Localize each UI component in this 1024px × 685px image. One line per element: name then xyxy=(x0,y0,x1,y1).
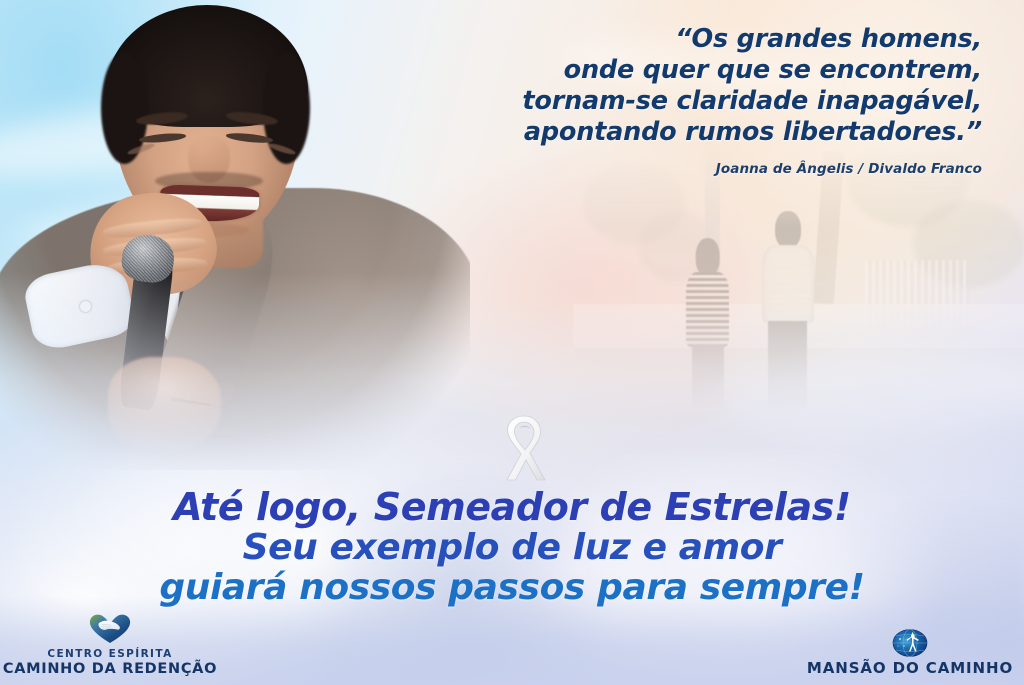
head xyxy=(775,211,801,248)
quote-line-1: “Os grandes homens, xyxy=(422,24,982,55)
quote-line-2: onde quer que se encontrem, xyxy=(422,55,982,86)
logo-right-line-2: MANSÃO DO CAMINHO xyxy=(807,659,1013,677)
quote-block: “Os grandes homens, onde quer que se enc… xyxy=(422,24,982,177)
logo-centro-espirita[interactable]: CENTRO ESPÍRITA CAMINHO DA REDENÇÃO xyxy=(14,611,206,677)
headline-line-1: Até logo, Semeador de Estrelas! xyxy=(0,486,1024,528)
head xyxy=(695,238,720,275)
logo-left-line-2: CAMINHO DA REDENÇÃO xyxy=(3,661,217,677)
headline-line-3: guiará nossos passos para sempre! xyxy=(0,568,1024,608)
globe-figure-logo-icon xyxy=(887,624,933,658)
headline-line-2: Seu exemplo de luz e amor xyxy=(0,528,1024,568)
quote-line-4: apontando rumos libertadores.” xyxy=(422,117,982,148)
logo-mansao-do-caminho[interactable]: MANSÃO DO CAMINHO xyxy=(810,624,1010,677)
hand-holding-microphone xyxy=(108,357,221,451)
white-mourning-ribbon-icon xyxy=(493,410,555,482)
quote-attribution: Joanna de Ângelis / Divaldo Franco xyxy=(422,161,982,177)
heart-hands-logo-icon xyxy=(87,611,133,645)
portrait-photo xyxy=(0,0,470,470)
logo-left-line-1: CENTRO ESPÍRITA xyxy=(47,648,172,660)
headline-block: Até logo, Semeador de Estrelas! Seu exem… xyxy=(0,486,1024,608)
quote-line-3: tornam-se claridade inapagável, xyxy=(422,86,982,117)
memorial-poster: “Os grandes homens, onde quer que se enc… xyxy=(0,0,1024,685)
